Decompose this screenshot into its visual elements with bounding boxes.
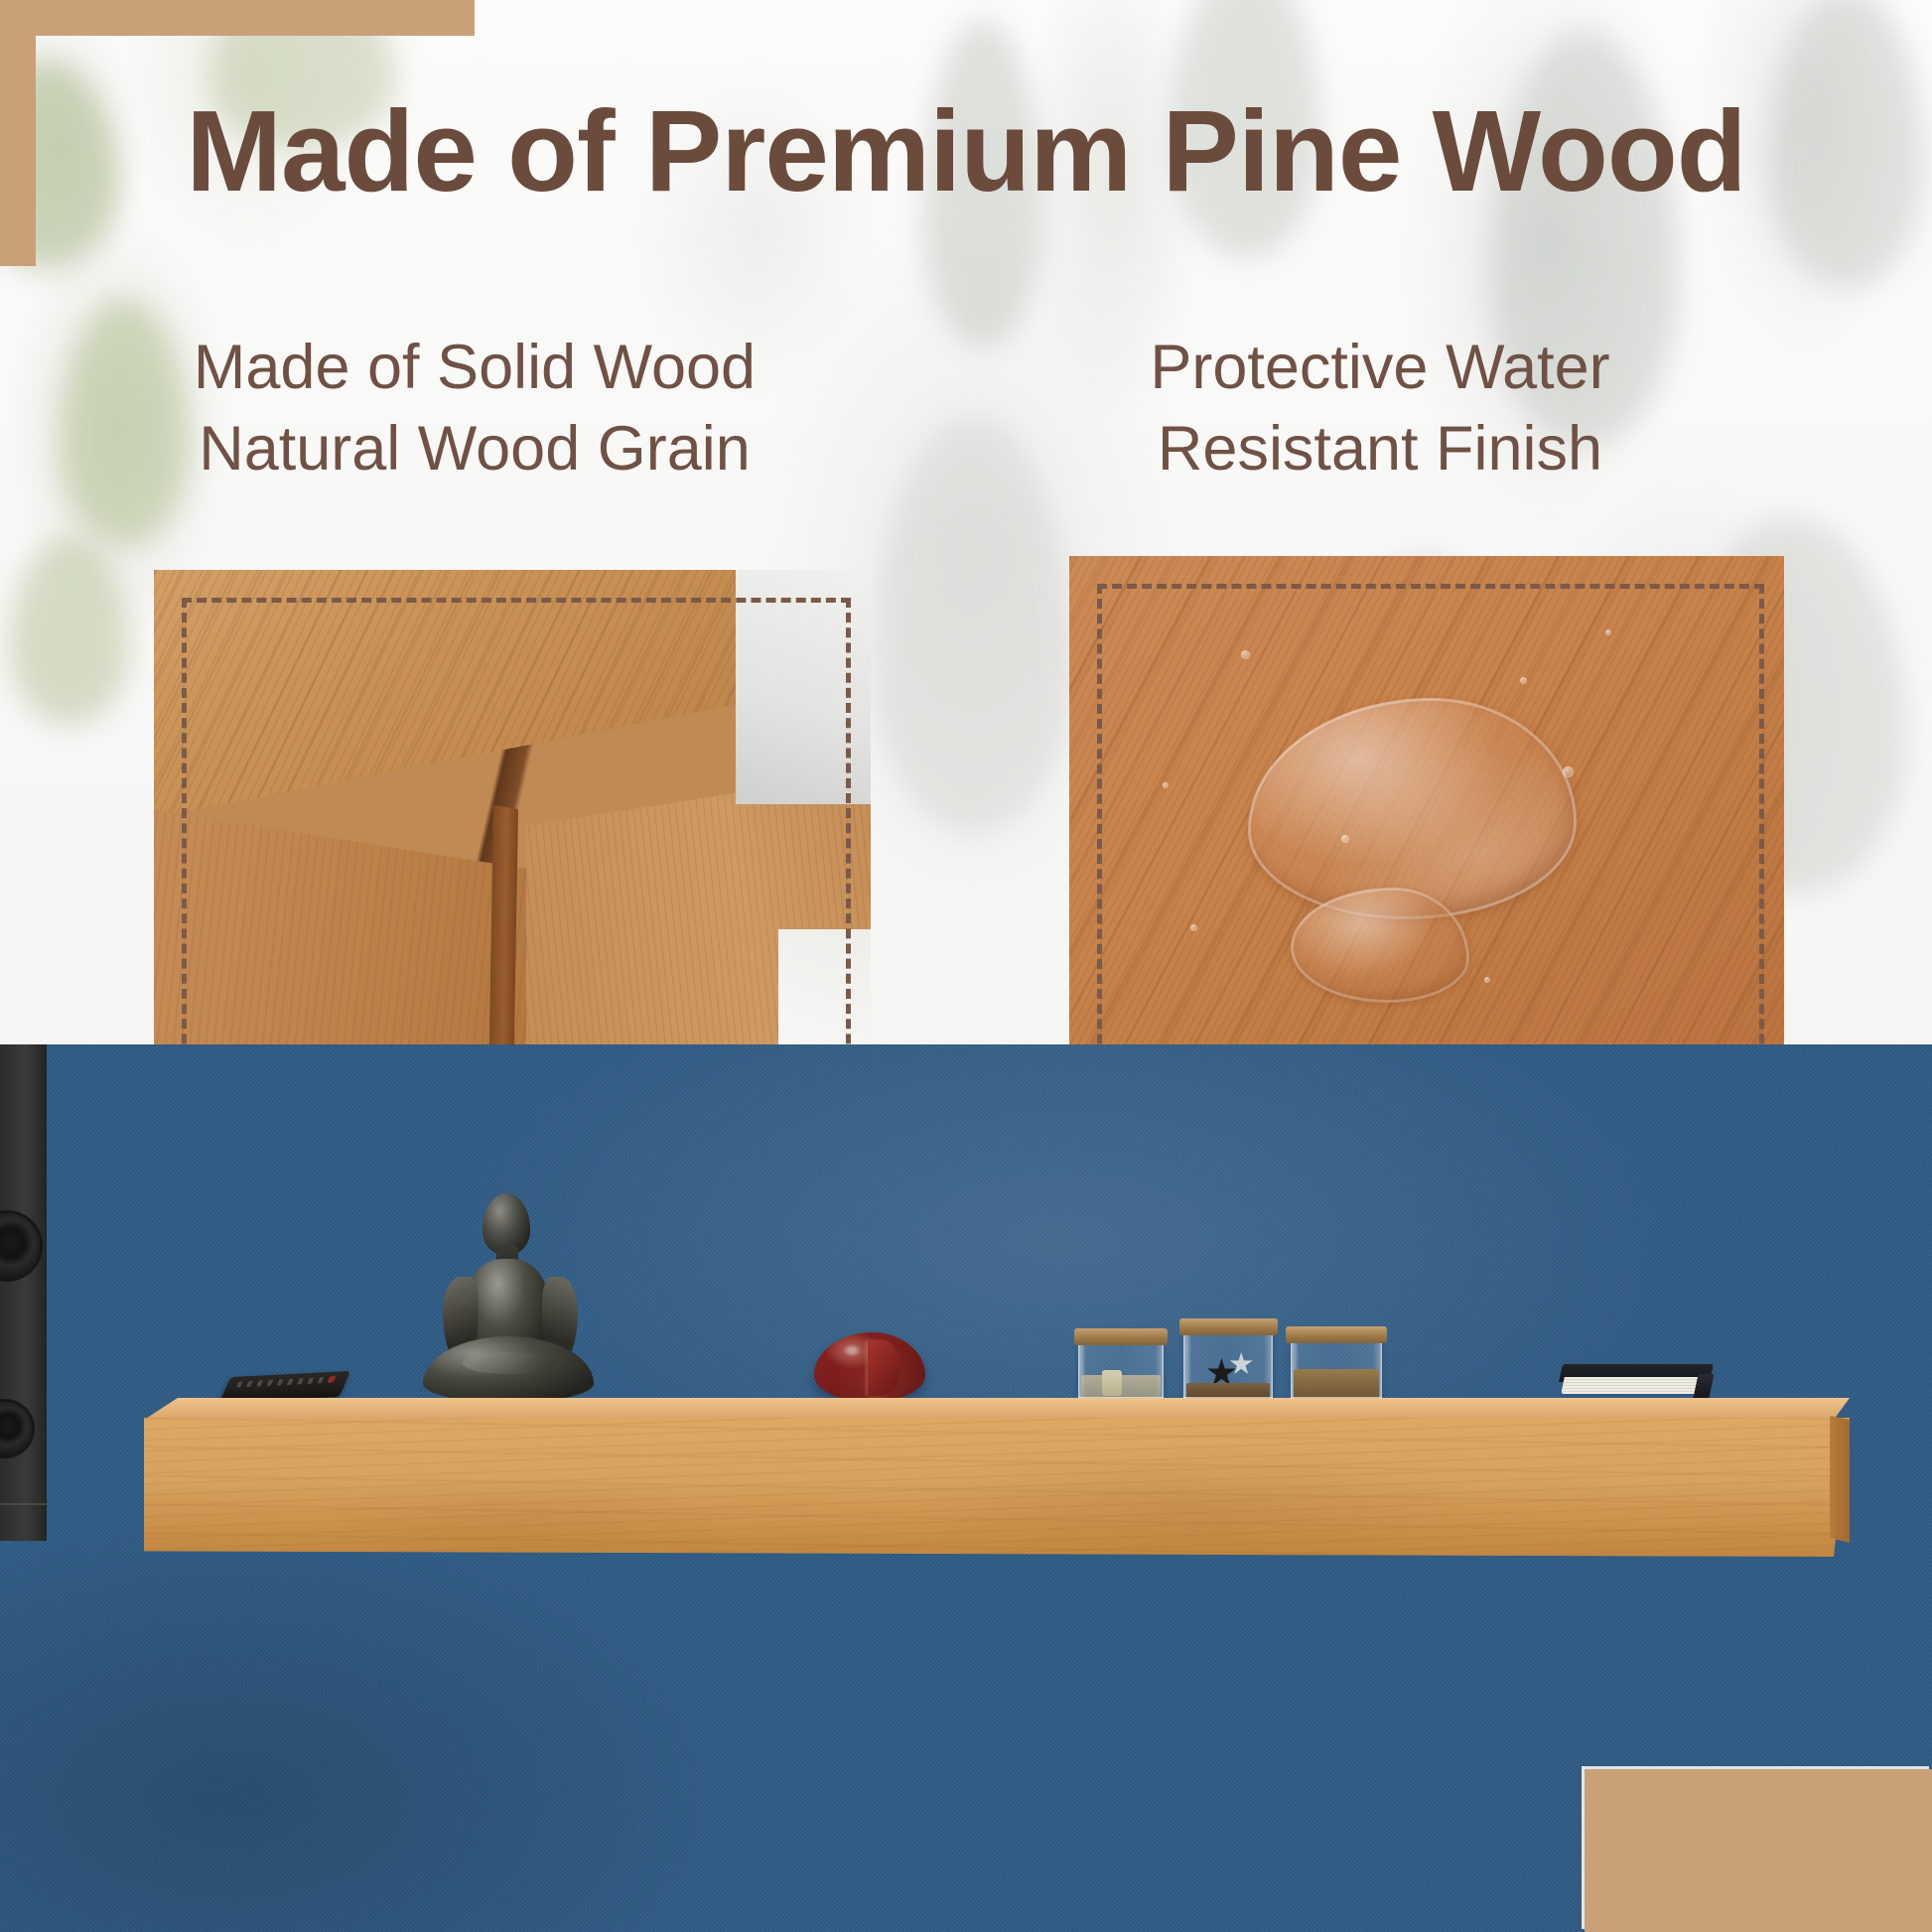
hardcover-book [1561,1364,1712,1400]
jar-cork-lid [1074,1328,1169,1345]
water-speck [1484,977,1490,983]
jar-cork-lid [1179,1318,1278,1335]
water-speck [1520,677,1527,684]
floor-speaker [0,1044,47,1541]
photo-background-cutout-top [736,570,871,804]
floating-wood-shelf [144,1398,1850,1557]
jar-candle [1102,1370,1122,1396]
water-speck [1341,835,1349,843]
glass-jar-group [1078,1326,1386,1404]
feature-heading-line2: Natural Wood Grain [87,409,862,490]
red-ceramic-vase [814,1332,925,1402]
speaker-driver-icon [0,1402,32,1455]
water-speck [1563,766,1574,777]
star-icon [1229,1352,1253,1376]
feature-heading-line1: Made of Solid Wood [87,328,862,409]
water-speck [1163,782,1169,788]
book-pages [1561,1377,1706,1394]
feature-heading-line2: Resistant Finish [993,409,1767,490]
infographic-page: Made of Premium Pine Wood Made of Solid … [0,0,1932,1932]
glass-jar-stars [1183,1332,1273,1404]
remote-buttons [236,1376,339,1387]
shelf-right-end [1830,1416,1850,1543]
feature-photo-solid-wood [154,570,871,1082]
feature-heading-line1: Protective Water [993,328,1767,409]
speaker-seam [0,1503,47,1505]
speaker-driver-icon [0,1213,40,1279]
feature-heading-water-resistant: Protective Water Resistant Finish [993,328,1767,490]
wood-front-face [154,805,541,1082]
water-droplet-small [1291,888,1469,1004]
water-speck [1190,924,1197,931]
wood-corner-photo [154,570,871,1082]
glass-jar-candle [1078,1342,1164,1404]
page-title: Made of Premium Pine Wood [0,91,1932,212]
feature-photo-water-resistant [1069,556,1784,1082]
wood-corner-bevel [488,805,518,1082]
shelf-front-face [144,1418,1850,1557]
corner-accent-top [0,0,475,36]
feature-heading-solid-wood: Made of Solid Wood Natural Wood Grain [87,328,862,490]
water-droplet-large [1248,698,1577,919]
buddha-statue [421,1193,596,1402]
water-droplet-photo [1069,556,1784,1082]
book-spine [1693,1374,1714,1398]
corner-accent-bottom-right [1585,1769,1932,1932]
jar-cork-lid [1286,1326,1386,1343]
shelf-top-surface [144,1398,1850,1420]
water-speck [1241,650,1250,659]
glass-jar-sand [1291,1340,1382,1404]
water-speck [1605,629,1611,635]
